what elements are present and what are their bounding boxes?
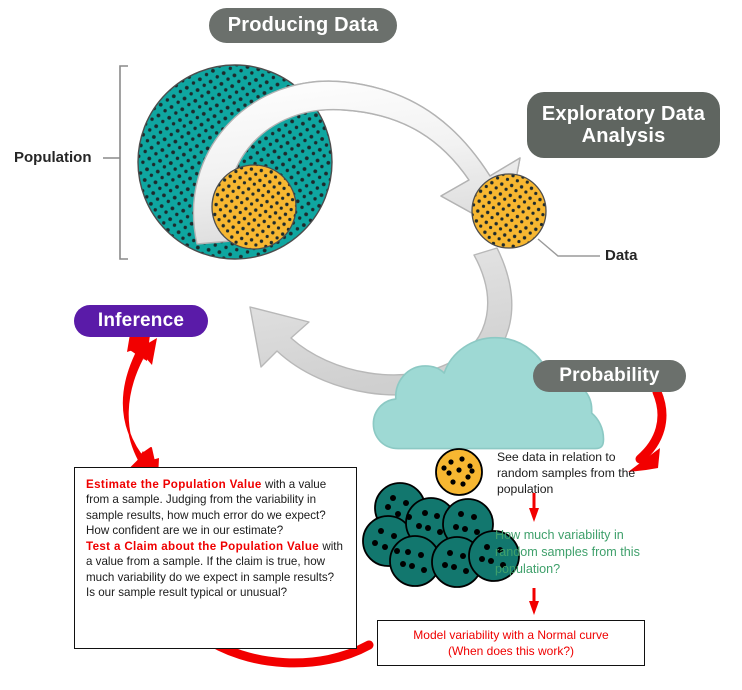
badge-eda-line2: Analysis xyxy=(582,125,666,147)
normal-curve-line1: Model variability with a Normal curve xyxy=(413,627,608,643)
inference-estimate-heading: Estimate the Population Value xyxy=(86,478,262,491)
badge-producing-data-label: Producing Data xyxy=(228,14,379,36)
inference-description-box: Estimate the Population Value with a val… xyxy=(74,467,357,649)
inference-test-heading: Test a Claim about the Population Value xyxy=(86,540,319,553)
badge-probability-label: Probability xyxy=(559,365,659,386)
badge-eda-line1: Exploratory Data xyxy=(542,103,705,125)
normal-curve-box: Model variability with a Normal curve (W… xyxy=(377,620,645,666)
normal-curve-line2: (When does this work?) xyxy=(448,643,574,659)
cluster-orange-sample xyxy=(436,449,482,495)
label-population: Population xyxy=(14,149,92,166)
inference-double-arrow xyxy=(124,334,157,475)
badge-producing-data[interactable]: Producing Data xyxy=(209,8,397,43)
text-see-data-in-relation: See data in relation to random samples f… xyxy=(497,450,647,498)
text-how-much-variability: How much variability in random samples f… xyxy=(495,527,640,578)
badge-probability[interactable]: Probability xyxy=(533,360,686,392)
badge-inference[interactable]: Inference xyxy=(74,305,208,337)
inference-paragraph-estimate: Estimate the Population Value with a val… xyxy=(86,477,346,539)
statistics-big-picture-diagram: Producing Data Exploratory Data Analysis… xyxy=(0,0,742,690)
inference-paragraph-test: Test a Claim about the Population Value … xyxy=(86,539,346,601)
population-bracket xyxy=(103,66,128,259)
arrow-variability-to-normal xyxy=(529,588,539,615)
label-data: Data xyxy=(605,247,638,264)
population-sample-circle xyxy=(212,165,296,249)
data-circle xyxy=(472,174,546,248)
data-leader-line xyxy=(538,239,600,256)
badge-exploratory-data-analysis[interactable]: Exploratory Data Analysis xyxy=(527,92,720,158)
probability-cloud xyxy=(373,338,603,449)
badge-inference-label: Inference xyxy=(98,310,184,331)
badge-eda-label: Exploratory Data Analysis xyxy=(542,103,705,148)
